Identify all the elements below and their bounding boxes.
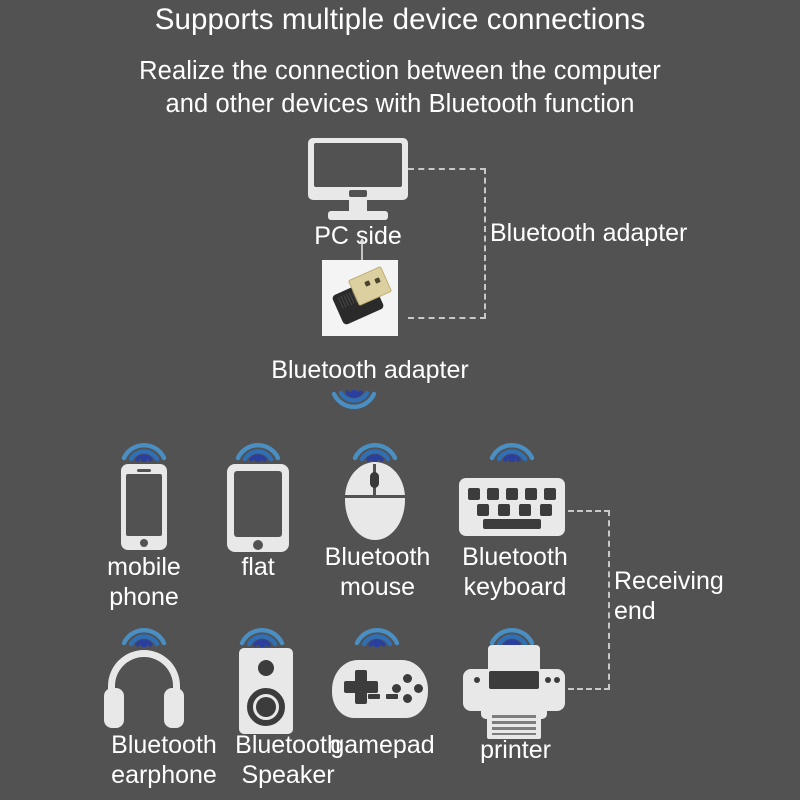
printer-paper-tray	[488, 645, 540, 671]
keyboard-key	[498, 504, 510, 516]
printer-feed-slot	[489, 671, 539, 689]
gamepad-button-left	[392, 684, 401, 693]
printer-to-bracket-connector	[568, 688, 610, 690]
receiving-end-label-line-1: Receiving	[614, 566, 794, 596]
bracket-bottom-stub	[408, 317, 486, 319]
monitor-stand-base	[328, 211, 388, 220]
printer-icon	[463, 645, 565, 741]
bluetooth-signal-waves-icon	[239, 617, 285, 647]
page-title: Supports multiple device connections	[0, 3, 800, 37]
mouse-icon	[345, 462, 405, 540]
keyboard-key	[468, 488, 480, 500]
gamepad-button-right	[414, 684, 423, 693]
bluetooth-signal-waves-icon	[121, 432, 167, 462]
monitor-icon	[308, 138, 408, 220]
device-label-bluetooth-mouse: Bluetooth mouse	[305, 542, 450, 602]
speaker-tweeter	[258, 660, 274, 676]
bluetooth-signal-waves-icon	[489, 432, 535, 462]
up-arrow-icon	[357, 238, 367, 262]
bluetooth-signal-waves-icon	[235, 432, 281, 462]
keyboard-key	[477, 504, 489, 516]
gamepad-button-top	[403, 674, 412, 683]
headphone-earcup-left	[104, 688, 124, 728]
gamepad-button-bottom	[403, 694, 412, 703]
bluetooth-signal-waves-icon	[354, 617, 400, 647]
keyboard-key	[544, 488, 556, 500]
usb-bluetooth-dongle-photo	[322, 260, 398, 336]
phone-screen	[126, 474, 162, 536]
gamepad-icon	[332, 654, 428, 720]
gamepad-select-button	[368, 694, 380, 699]
bracket-top-stub	[408, 168, 486, 170]
keyboard-to-bracket-connector	[568, 510, 610, 512]
phone-earpiece	[137, 469, 151, 472]
headphones-icon	[104, 650, 184, 730]
gamepad-start-button	[386, 694, 398, 699]
printer-paper-lines	[492, 715, 536, 735]
keyboard-key	[540, 504, 552, 516]
keyboard-key	[519, 504, 531, 516]
tablet-screen	[234, 471, 282, 537]
mouse-scroll-wheel	[370, 472, 379, 488]
bracket-vertical-line	[484, 168, 486, 319]
subtitle-line-2: and other devices with Bluetooth functio…	[0, 90, 800, 119]
device-label-gamepad: gamepad	[310, 730, 455, 760]
device-label-bluetooth-keyboard: Bluetooth keyboard	[440, 542, 590, 602]
keyboard-key	[506, 488, 518, 500]
phone-home-button	[140, 539, 148, 547]
bluetooth-signal-waves-icon	[331, 390, 377, 420]
bluetooth-signal-waves-icon	[352, 432, 398, 462]
smartphone-icon	[121, 464, 167, 550]
monitor-indicator	[349, 190, 367, 197]
printer-indicator-light	[545, 677, 551, 683]
speaker-icon	[239, 648, 293, 734]
gamepad-dpad-vertical	[355, 670, 367, 704]
tablet-home-button	[253, 540, 263, 550]
printer-indicator-light	[554, 677, 560, 683]
subtitle-line-1: Realize the connection between the compu…	[0, 57, 800, 86]
receiving-bracket-vertical-line	[608, 510, 610, 690]
bluetooth-signal-waves-icon	[121, 617, 167, 647]
tablet-icon	[227, 464, 289, 552]
device-label-flat: flat	[193, 552, 323, 582]
printer-indicator-light	[474, 677, 480, 683]
speaker-woofer-center	[256, 697, 276, 717]
infographic-canvas: Supports multiple device connections Rea…	[0, 0, 800, 800]
keyboard-key	[487, 488, 499, 500]
keyboard-spacebar	[483, 519, 541, 529]
monitor-screen	[314, 143, 402, 187]
bluetooth-adapter-bracket-label: Bluetooth adapter	[490, 218, 790, 248]
bluetooth-signal-waves-icon	[489, 617, 535, 647]
device-label-printer: printer	[448, 735, 583, 765]
keyboard-icon	[459, 478, 565, 536]
bluetooth-adapter-caption: Bluetooth adapter	[180, 355, 560, 385]
headphone-earcup-right	[164, 688, 184, 728]
receiving-end-label-line-2: end	[614, 596, 794, 626]
keyboard-key	[525, 488, 537, 500]
